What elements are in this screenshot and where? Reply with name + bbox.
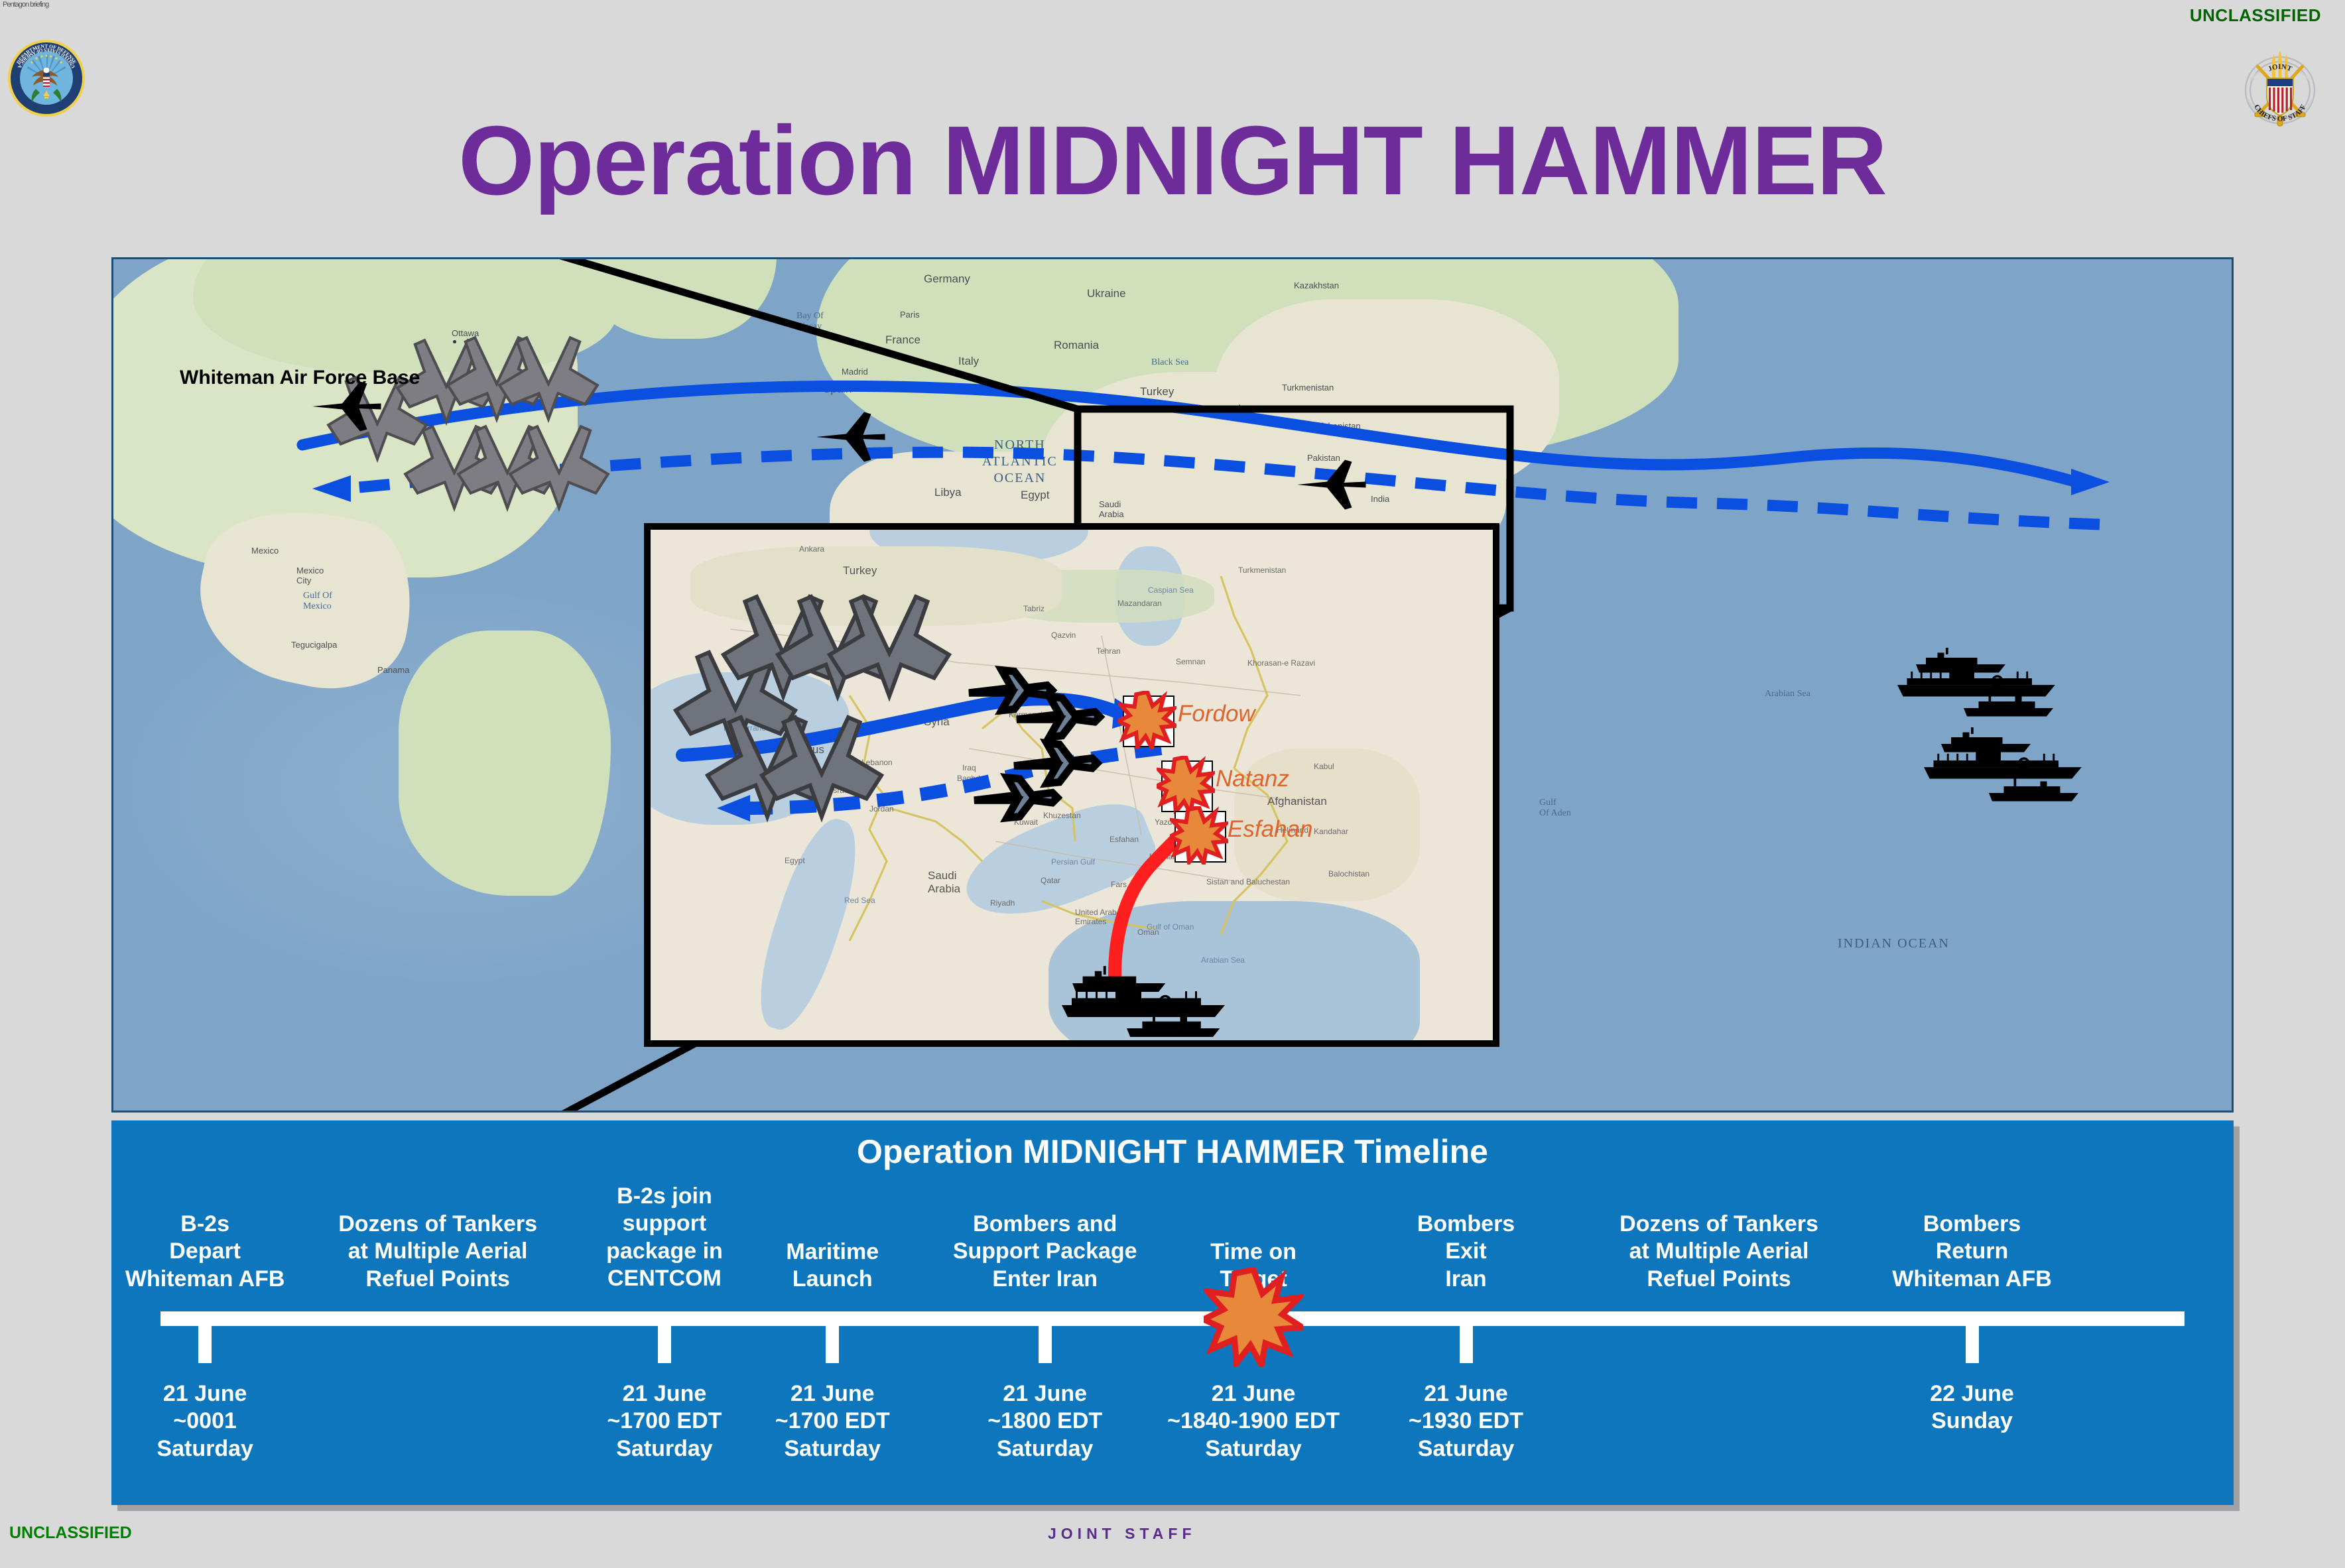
timeline-axis-line (160, 1311, 2185, 1326)
time-on-target-burst-icon (1204, 1268, 1303, 1367)
department-of-defense-seal: DEPARTMENT OF DEFENSE UNITED STATES OF A… (7, 38, 86, 118)
world-operations-map[interactable]: NORTH ATLANTIC OCEAN INDIAN OCEAN Bay Of… (111, 257, 2234, 1113)
route-return-arrowhead (312, 475, 351, 502)
naval-group-arabian-sea-1 (1897, 648, 2055, 717)
whiteman-afb-label: Whiteman Air Force Base (180, 367, 420, 389)
timeline-date-label: 21 June ~0001 Saturday (39, 1380, 371, 1463)
timeline-date-label: 21 June ~1930 EDT Saturday (1300, 1380, 1632, 1463)
timeline-tick-mark (1460, 1326, 1473, 1363)
explosion-burst-icon (1157, 756, 1215, 814)
timeline-tick-mark (826, 1326, 839, 1363)
classification-marking-bottom: UNCLASSIFIED (9, 1524, 132, 1543)
target-label-fordow: Fordow (1178, 701, 1255, 727)
timeline-date-label: 22 June Sunday (1806, 1380, 2138, 1435)
classification-marking-top: UNCLASSIFIED (2190, 5, 2321, 26)
naval-group-gulf-of-oman (1062, 966, 1225, 1037)
target-label-natanz: Natanz (1216, 766, 1289, 792)
timeline-tick-mark (1966, 1326, 1979, 1363)
target-label-esfahan: Esfahan (1228, 816, 1312, 843)
b2-spirit-bomber-group-inset (676, 597, 949, 817)
fighter-escort-group-inset (969, 670, 1100, 818)
timeline-tick-mark (1039, 1326, 1052, 1363)
top-left-artifact-text: Pentagon briefing (3, 1, 48, 9)
route-outbound-arrowhead (2071, 469, 2110, 495)
inset-strike-overlay (651, 530, 1493, 1040)
timeline-panel: Operation MIDNIGHT HAMMER Timeline B-2s … (111, 1120, 2234, 1505)
explosion-burst-icon (1170, 806, 1228, 865)
route-return-dashed (346, 452, 2100, 524)
naval-group-arabian-sea-2 (1924, 727, 2082, 802)
middle-east-inset-map[interactable]: Turkey Ankara Cyprus Syria Lebanon Israe… (644, 523, 1499, 1047)
inset-canvas: Turkey Ankara Cyprus Syria Lebanon Israe… (651, 530, 1493, 1040)
footer-joint-staff: JOINT STAFF (1048, 1525, 1196, 1543)
timeline-event-label: Bombers Return Whiteman AFB (1806, 1211, 2138, 1293)
timeline-tick-mark (198, 1326, 212, 1363)
joint-chiefs-of-staff-seal: JOINT CHIEFS OF STAFF (2238, 46, 2322, 131)
page-title: Operation MIDNIGHT HAMMER (0, 112, 2345, 210)
explosion-burst-icon (1118, 691, 1176, 749)
timeline-tick-mark (658, 1326, 671, 1363)
timeline-title: Operation MIDNIGHT HAMMER Timeline (111, 1132, 2234, 1171)
